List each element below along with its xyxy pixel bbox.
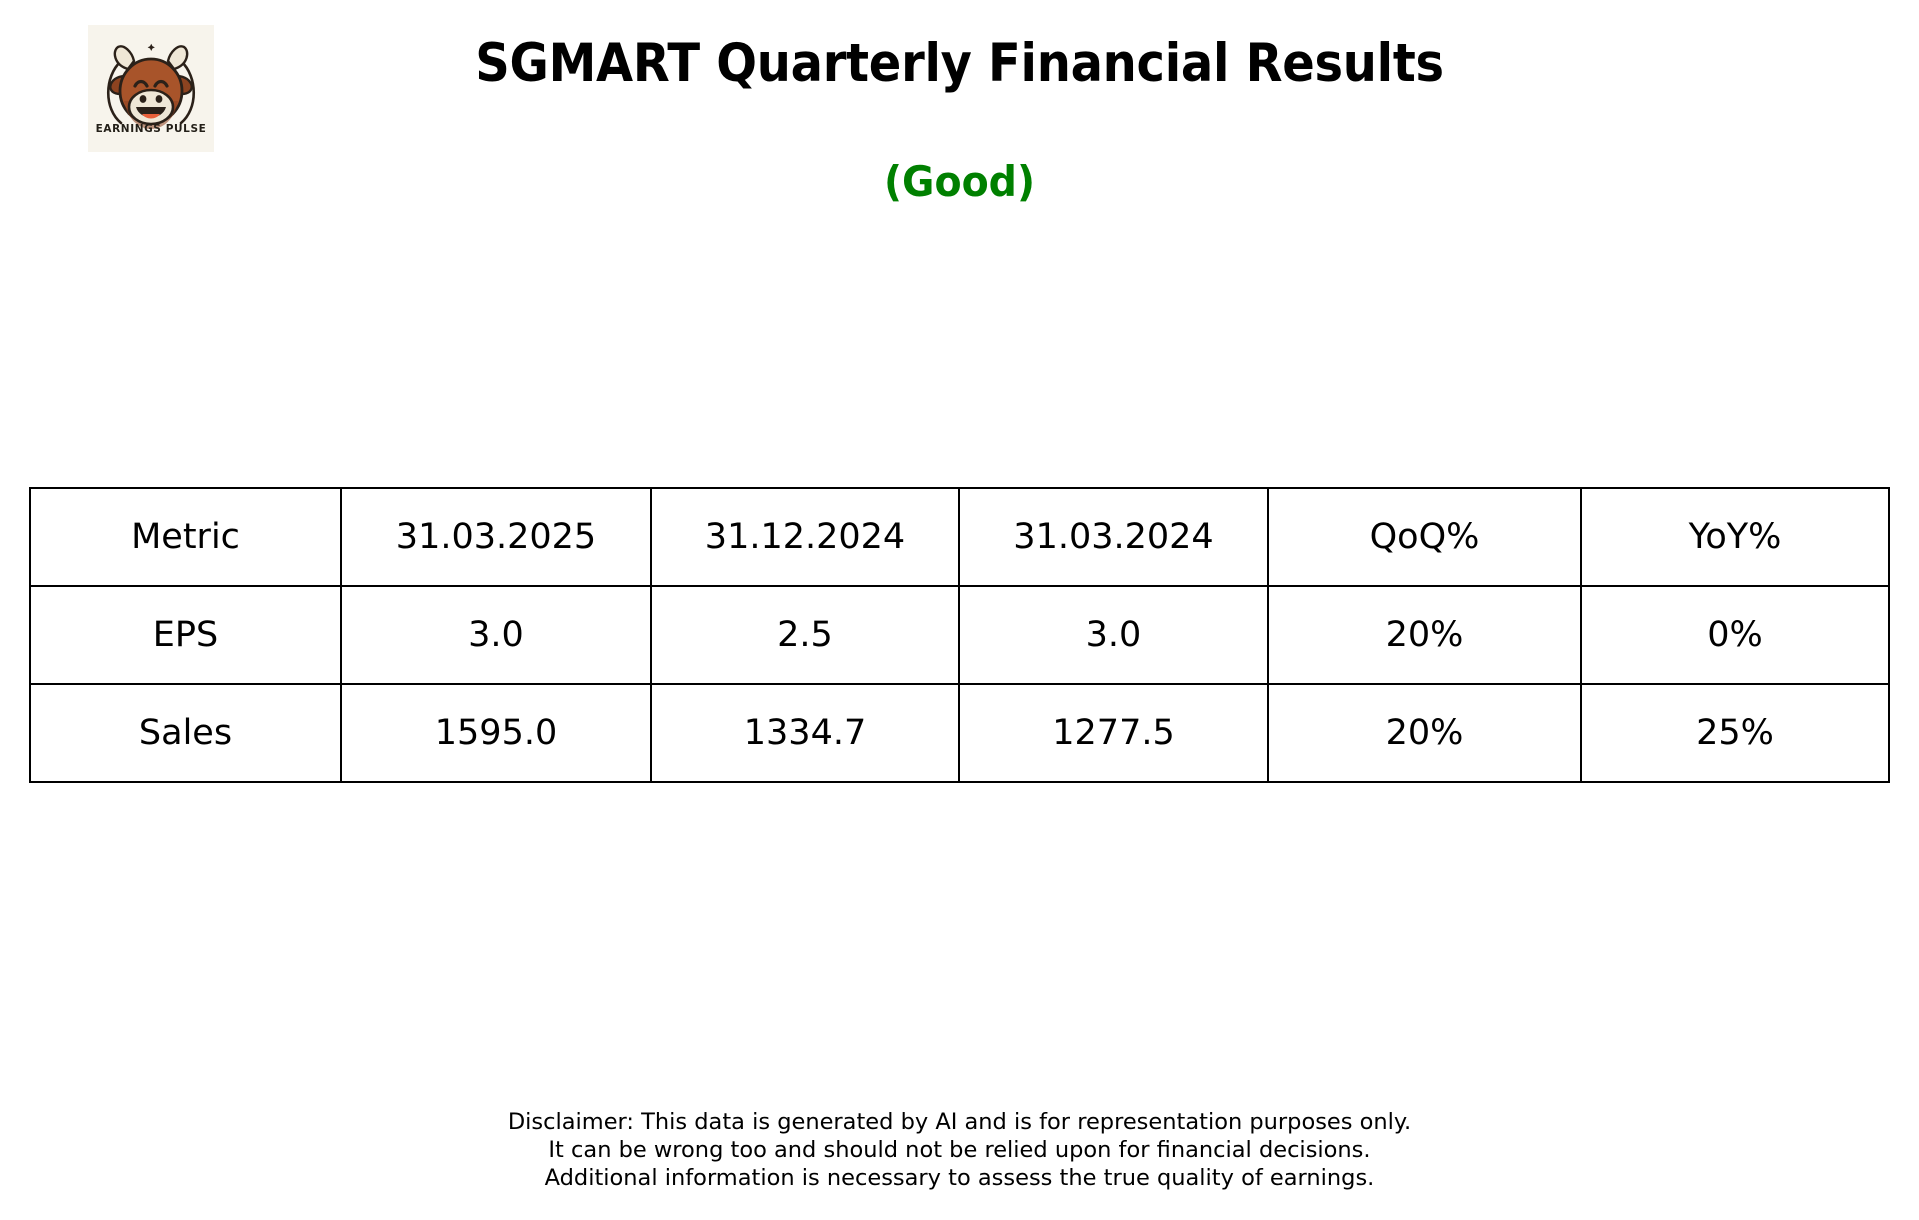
column-header-q1-2025: 31.03.2025	[341, 488, 651, 586]
cell-q1-2025: 3.0	[341, 586, 651, 684]
result-quality-badge: (Good)	[58, 157, 1862, 206]
cell-q1-2025: 1595.0	[341, 684, 651, 782]
cell-q4-2024: 1334.7	[651, 684, 959, 782]
disclaimer-line-3: Additional information is necessary to a…	[0, 1164, 1919, 1192]
financial-results-table-container: Metric 31.03.2025 31.12.2024 31.03.2024 …	[29, 487, 1888, 783]
cell-q1-2024: 1277.5	[959, 684, 1268, 782]
financial-results-table: Metric 31.03.2025 31.12.2024 31.03.2024 …	[29, 487, 1890, 783]
page-title: SGMART Quarterly Financial Results	[91, 33, 1828, 94]
cell-q4-2024: 2.5	[651, 586, 959, 684]
cell-yoy: 0%	[1581, 586, 1889, 684]
table-header-row: Metric 31.03.2025 31.12.2024 31.03.2024 …	[30, 488, 1889, 586]
cell-q1-2024: 3.0	[959, 586, 1268, 684]
cell-qoq: 20%	[1268, 684, 1581, 782]
column-header-q4-2024: 31.12.2024	[651, 488, 959, 586]
cell-yoy: 25%	[1581, 684, 1889, 782]
disclaimer-line-2: It can be wrong too and should not be re…	[0, 1136, 1919, 1164]
cell-qoq: 20%	[1268, 586, 1581, 684]
logo-caption: EARNINGS PULSE	[88, 123, 214, 135]
column-header-metric: Metric	[30, 488, 341, 586]
table-row: Sales 1595.0 1334.7 1277.5 20% 25%	[30, 684, 1889, 782]
disclaimer-line-1: Disclaimer: This data is generated by AI…	[0, 1108, 1919, 1136]
column-header-q1-2024: 31.03.2024	[959, 488, 1268, 586]
cell-metric-name: EPS	[30, 586, 341, 684]
column-header-yoy: YoY%	[1581, 488, 1889, 586]
column-header-qoq: QoQ%	[1268, 488, 1581, 586]
disclaimer: Disclaimer: This data is generated by AI…	[0, 1108, 1919, 1192]
table-row: EPS 3.0 2.5 3.0 20% 0%	[30, 586, 1889, 684]
cell-metric-name: Sales	[30, 684, 341, 782]
